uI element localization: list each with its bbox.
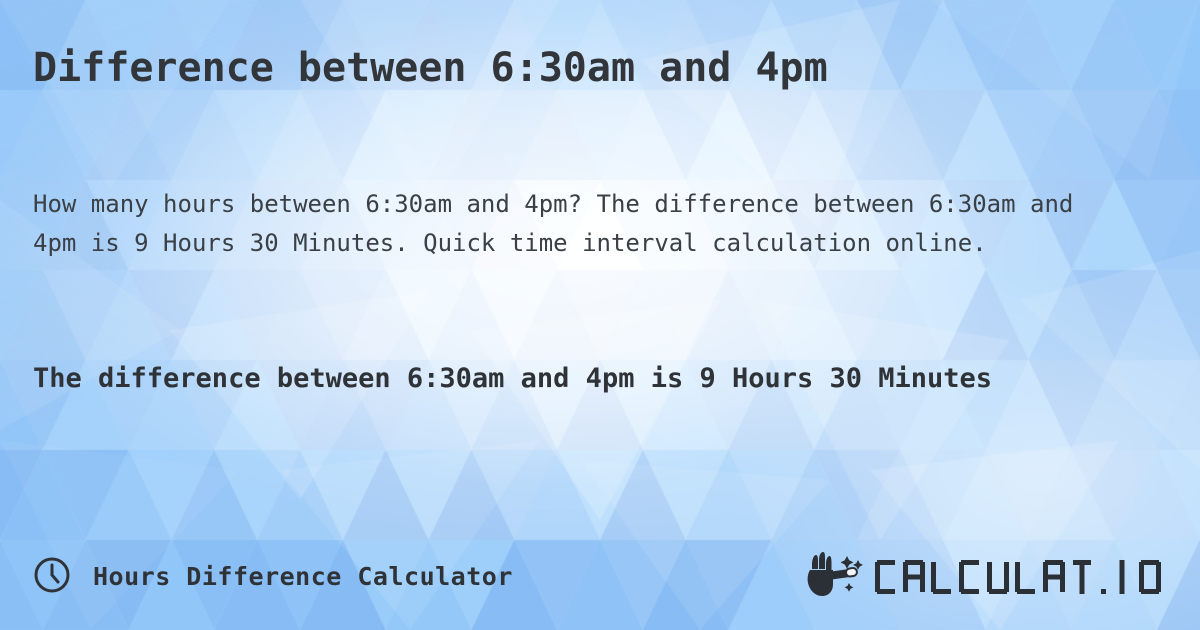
hand-magic-wand-icon (805, 552, 867, 602)
footer-branding-group: Hours Difference Calculator (33, 556, 513, 598)
footer: Hours Difference Calculator (0, 535, 1200, 630)
result-statement: The difference between 6:30am and 4pm is… (33, 355, 1093, 403)
footer-label: Hours Difference Calculator (93, 562, 513, 591)
page-description: How many hours between 6:30am and 4pm? T… (33, 185, 1123, 263)
clock-icon (33, 556, 71, 598)
page-title: Difference between 6:30am and 4pm (33, 44, 828, 93)
brand-wordmark (875, 554, 1167, 600)
page-container: Difference between 6:30am and 4pm How ma… (0, 0, 1200, 630)
brand-logo[interactable] (805, 552, 1167, 602)
